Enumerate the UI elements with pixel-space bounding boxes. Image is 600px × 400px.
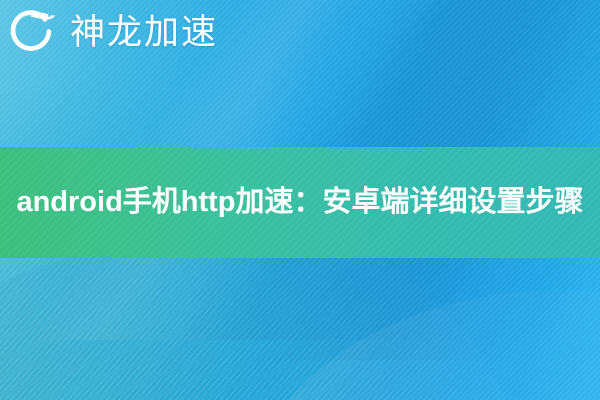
- brand-name: 神龙加速: [70, 15, 218, 50]
- title-band: android手机http加速：安卓端详细设置步骤: [0, 147, 600, 258]
- brand-logo: 神龙加速: [6, 4, 218, 60]
- promo-banner: 神龙加速 android手机http加速：安卓端详细设置步骤: [0, 0, 600, 400]
- banner-title: android手机http加速：安卓端详细设置步骤: [8, 182, 591, 222]
- dragon-circle-logo-icon: [6, 4, 62, 60]
